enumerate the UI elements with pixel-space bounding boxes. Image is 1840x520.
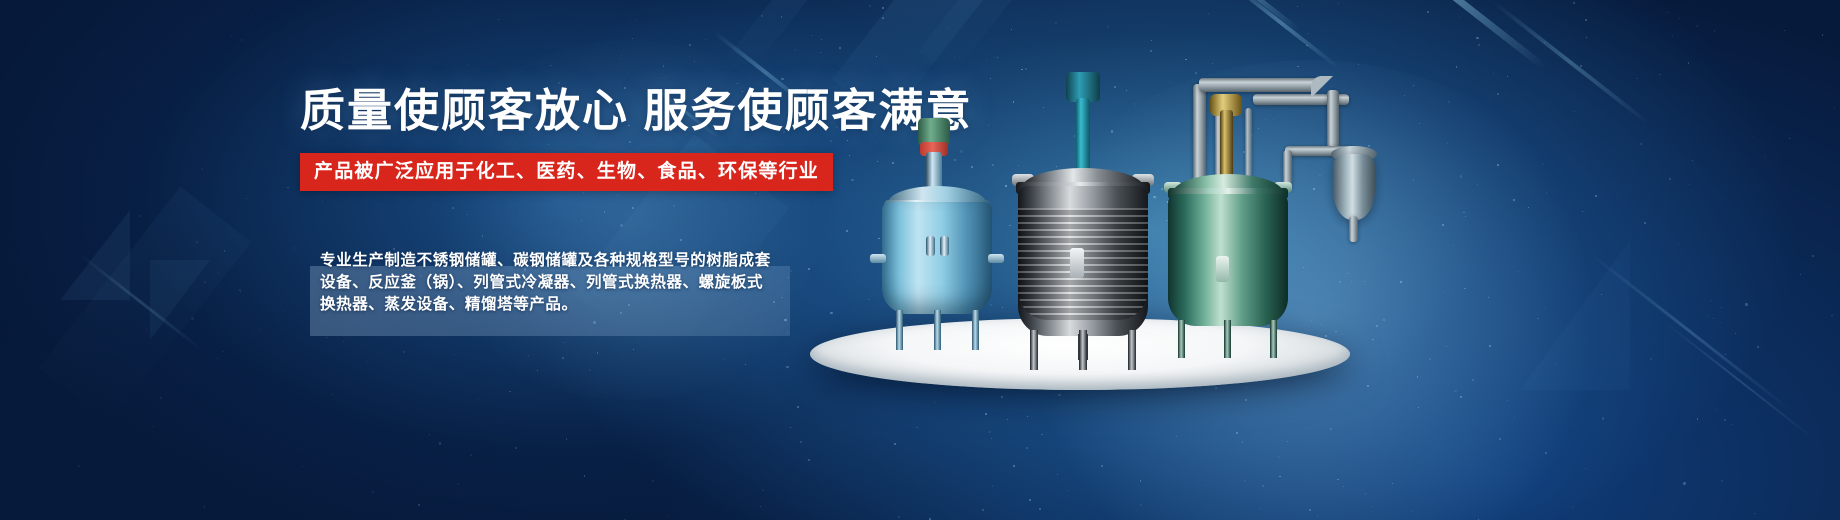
- support-leg-3: [1128, 330, 1136, 370]
- paragraph-line-2: 设备、反应釜（锅）、列管式冷凝器、列管式换热器、螺旋板式: [320, 272, 780, 294]
- application-badge: 产品被广泛应用于化工、医药、生物、食品、环保等行业: [300, 153, 833, 191]
- reactor-vessel-green: [1168, 158, 1288, 348]
- sight-glass: [1070, 248, 1084, 278]
- paragraph-line-3: 换热器、蒸发设备、精馏塔等产品。: [320, 294, 780, 316]
- paragraph-line-1: 专业生产制造不锈钢储罐、碳钢储罐及各种规格型号的树脂成套: [320, 250, 780, 272]
- agitator-shaft: [1076, 98, 1090, 176]
- equipment-scene: [790, 30, 1450, 420]
- sight-glass: [1216, 256, 1229, 282]
- reactor-vessel-steel: [1018, 138, 1148, 350]
- support-leg-2: [1224, 320, 1231, 358]
- reactor-vessel-blue: [882, 180, 992, 345]
- sight-glass-2: [940, 236, 949, 256]
- promo-banner: 质量使顾客放心 服务使顾客满意 产品被广泛应用于化工、医药、生物、食品、环保等行…: [0, 0, 1840, 520]
- page-title: 质量使顾客放心 服务使顾客满意: [300, 88, 820, 133]
- support-leg-3: [1270, 320, 1277, 358]
- support-leg-2: [934, 310, 941, 350]
- support-leg-1: [1178, 320, 1185, 358]
- description-paragraph: 专业生产制造不锈钢储罐、碳钢储罐及各种规格型号的树脂成套 设备、反应釜（锅）、列…: [320, 250, 780, 316]
- vessel-lug-left: [870, 254, 886, 263]
- support-leg-2: [1079, 330, 1087, 370]
- support-leg-1: [896, 310, 903, 350]
- agitator-shaft: [1220, 110, 1233, 180]
- support-leg-1: [1030, 330, 1038, 370]
- vessel-body: [882, 202, 992, 314]
- vessel-lug-right: [988, 254, 1004, 263]
- banner-copy: 质量使顾客放心 服务使顾客满意 产品被广泛应用于化工、医药、生物、食品、环保等行…: [300, 88, 820, 191]
- sight-glass: [926, 236, 935, 256]
- support-leg-3: [972, 310, 979, 350]
